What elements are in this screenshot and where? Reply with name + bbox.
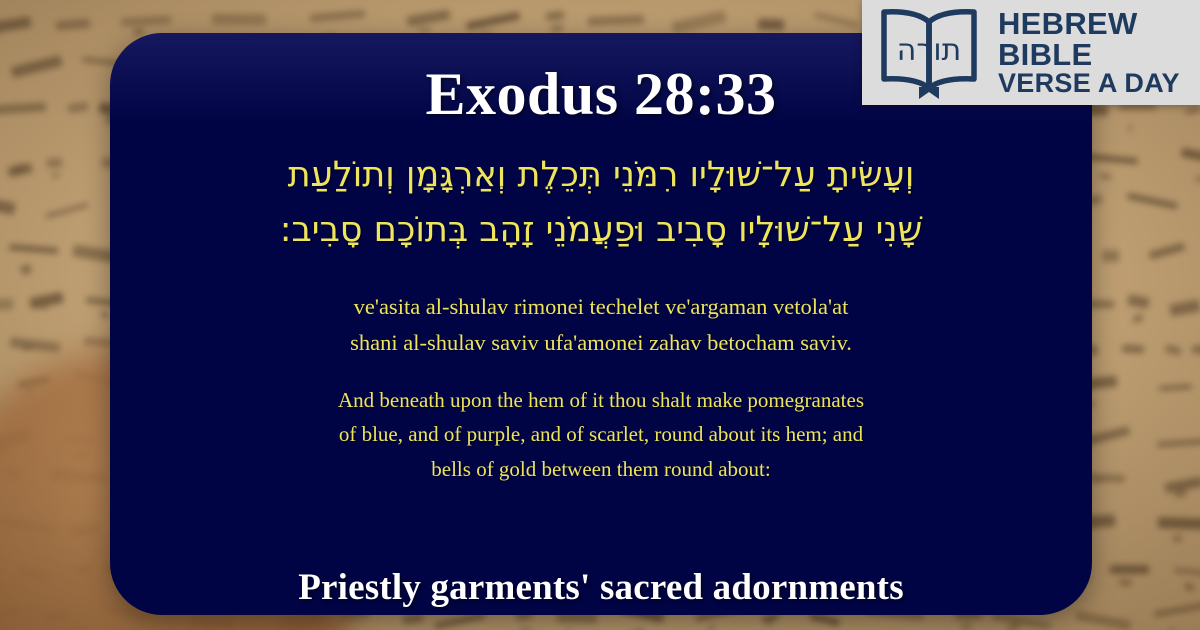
verse-reference-title: Exodus 28:33 bbox=[425, 63, 776, 126]
english-line-1: And beneath upon the hem of it thou shal… bbox=[201, 383, 1001, 417]
hebrew-line-2: שָׁנִי עַל־שׁוּלָיו סָבִיב וּפַעֲמֹנֵי ז… bbox=[136, 203, 1066, 258]
torah-hebrew-glyphs: תורה bbox=[897, 33, 961, 68]
brand-line-3: VERSE A DAY bbox=[998, 70, 1180, 97]
brand-logo-text: HEBREW BIBLE VERSE A DAY bbox=[998, 8, 1180, 97]
brand-logo-badge[interactable]: תורה HEBREW BIBLE VERSE A DAY bbox=[862, 0, 1200, 105]
brand-line-2: BIBLE bbox=[998, 39, 1180, 70]
verse-theme-caption: Priestly garments' sacred adornments bbox=[110, 566, 1092, 609]
hebrew-verse-text: וְעָשִׂיתָ עַל־שׁוּלָיו רִמֹּנֵי תְּכֵלֶ… bbox=[136, 148, 1066, 259]
brand-line-1: HEBREW bbox=[998, 8, 1180, 39]
transliteration-text: ve'asita al-shulav rimonei techelet ve'a… bbox=[191, 289, 1011, 362]
open-book-torah-icon: תורה bbox=[870, 7, 988, 99]
verse-content: Exodus 28:33 וְעָשִׂיתָ עַל־שׁוּלָיו רִמ… bbox=[110, 33, 1092, 615]
transliteration-line-1: ve'asita al-shulav rimonei techelet ve'a… bbox=[191, 289, 1011, 325]
verse-image-canvas: Exodus 28:33 וְעָשִׂיתָ עַל־שׁוּלָיו רִמ… bbox=[0, 0, 1200, 630]
english-line-2: of blue, and of purple, and of scarlet, … bbox=[201, 417, 1001, 451]
transliteration-line-2: shani al-shulav saviv ufa'amonei zahav b… bbox=[191, 325, 1011, 361]
english-line-3: bells of gold between them round about: bbox=[201, 452, 1001, 486]
hebrew-line-1: וְעָשִׂיתָ עַל־שׁוּלָיו רִמֹּנֵי תְּכֵלֶ… bbox=[136, 148, 1066, 203]
english-translation-text: And beneath upon the hem of it thou shal… bbox=[201, 383, 1001, 485]
